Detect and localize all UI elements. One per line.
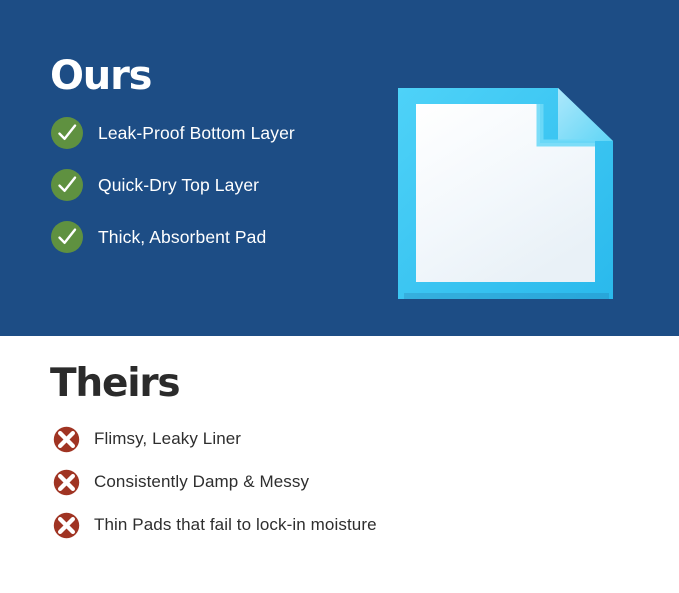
list-item-label: Leak-Proof Bottom Layer — [98, 119, 295, 145]
ours-panel: Ours Leak-Proof Bottom Layer — [0, 0, 679, 336]
check-circle-icon — [50, 168, 84, 202]
theirs-panel: Theirs Flimsy, Leaky Liner — [0, 336, 679, 593]
list-item: Flimsy, Leaky Liner — [50, 427, 380, 454]
cross-circle-icon — [53, 426, 80, 453]
list-item: Leak-Proof Bottom Layer — [50, 119, 380, 153]
list-item-label: Quick-Dry Top Layer — [98, 171, 259, 197]
ours-heading: Ours — [50, 55, 380, 97]
list-item-label: Flimsy, Leaky Liner — [94, 427, 241, 450]
cross-circle-icon — [53, 512, 80, 539]
list-item: Quick-Dry Top Layer — [50, 171, 380, 205]
list-item-label: Consistently Damp & Messy — [94, 470, 309, 493]
list-item-label: Thick, Absorbent Pad — [98, 223, 266, 249]
theirs-text-column: Theirs Flimsy, Leaky Liner — [50, 364, 380, 540]
list-item: Thin Pads that fail to lock-in moisture — [50, 513, 380, 540]
premium-underpad-illustration — [394, 85, 616, 302]
check-circle-icon — [50, 116, 84, 150]
theirs-heading: Theirs — [50, 364, 380, 405]
check-circle-icon — [50, 220, 84, 254]
ours-benefit-list: Leak-Proof Bottom Layer Quick-Dry Top La… — [50, 119, 380, 257]
list-item: Thick, Absorbent Pad — [50, 223, 380, 257]
cross-circle-icon — [53, 469, 80, 496]
list-item-label: Thin Pads that fail to lock-in moisture — [94, 513, 377, 536]
theirs-drawback-list: Flimsy, Leaky Liner Consistently Damp & … — [50, 427, 380, 540]
ours-text-column: Ours Leak-Proof Bottom Layer — [50, 55, 380, 257]
list-item: Consistently Damp & Messy — [50, 470, 380, 497]
comparison-infographic: Ours Leak-Proof Bottom Layer — [0, 0, 679, 593]
